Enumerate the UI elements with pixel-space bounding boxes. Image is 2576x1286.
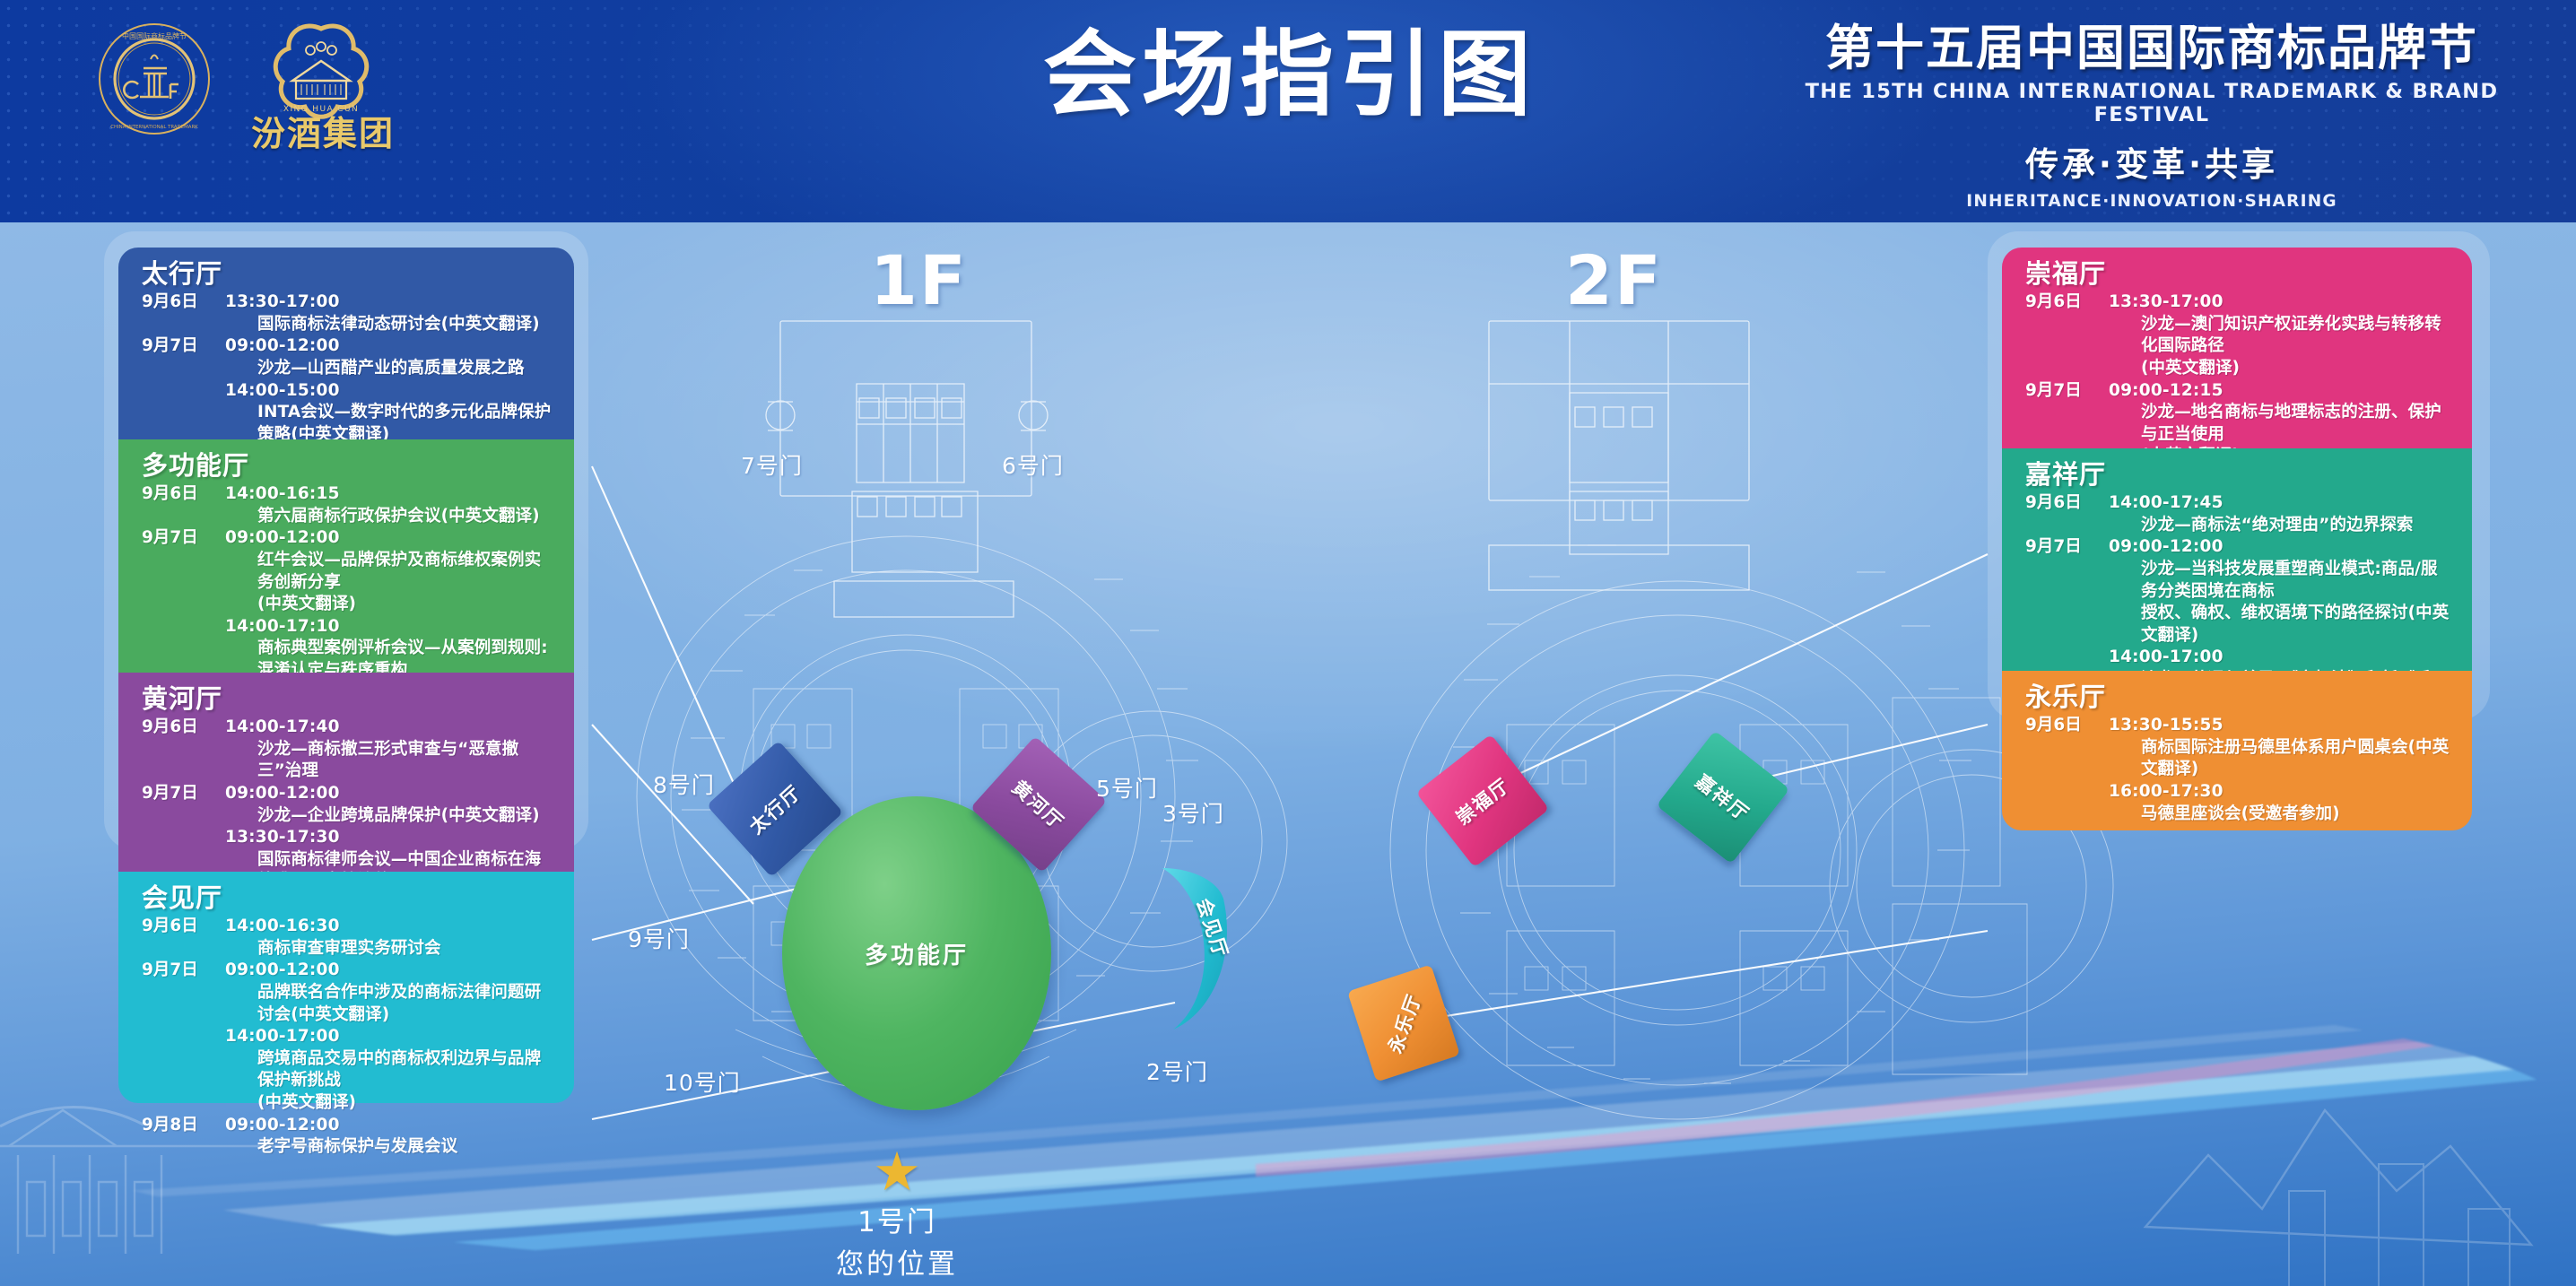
event-date: 9月7日 xyxy=(2025,536,2109,559)
event-name: (中英文翻译) xyxy=(225,1092,554,1115)
event-time: 09:00-12:00 xyxy=(2109,536,2452,559)
event-time: 14:00-17:00 xyxy=(2109,647,2452,669)
schedule-card-title: 永乐厅 xyxy=(2025,680,2452,714)
event-time: 09:00-12:15 xyxy=(2109,380,2452,403)
event-name: (中英文翻译) xyxy=(225,594,554,616)
event-time: 13:30-17:30 xyxy=(225,827,554,849)
door-label-6: 6号门 xyxy=(1002,448,1064,481)
event-name: 马德里座谈会(受邀者参加) xyxy=(2109,804,2452,826)
schedule-event-row: 14:00-15:00INTA会议—数字时代的多元化品牌保护策略(中英文翻译) xyxy=(142,380,554,447)
map-hall-label: 永乐厅 xyxy=(1380,989,1427,1056)
event-date: 9月6日 xyxy=(2025,492,2109,515)
event-time: 14:00-15:00 xyxy=(225,380,554,403)
schedule-card[interactable]: 太行厅9月6日13:30-17:00国际商标法律动态研讨会(中英文翻译)9月7日… xyxy=(118,248,574,439)
star-icon: ★ xyxy=(762,1151,1031,1194)
event-name: 沙龙—澳门知识产权证券化实践与转移转化国际路径 xyxy=(2109,314,2452,358)
schedule-event-row: 9月7日09:00-12:00沙龙—当科技发展重塑商业模式:商品/服务分类困境在… xyxy=(2025,536,2452,647)
schedule-card-title: 崇福厅 xyxy=(2025,256,2452,291)
schedule-event-row: 9月6日14:00-16:30商标审查审理实务研讨会 xyxy=(142,916,554,960)
event-name: 商标国际注册马德里体系用户圆桌会(中英文翻译) xyxy=(2109,737,2452,781)
schedule-card-title: 黄河厅 xyxy=(142,682,554,716)
you-are-here-marker: ★ 1号门 您的位置 xyxy=(762,1151,1031,1282)
page-title: 会场指引图 xyxy=(976,20,1604,130)
map-hall-huijian[interactable]: 会见厅 xyxy=(1155,857,1238,1037)
event-name: 沙龙—山西醋产业的高质量发展之路 xyxy=(225,358,554,380)
event-body: 14:00-17:00跨境商品交易中的商标权利边界与品牌保护新挑战(中英文翻译) xyxy=(225,1026,554,1114)
event-time: 13:30-17:00 xyxy=(225,291,554,314)
event-body: 09:00-12:00沙龙—当科技发展重塑商业模式:商品/服务分类困境在商标授权… xyxy=(2109,536,2452,647)
schedule-card[interactable]: 会见厅9月6日14:00-16:30商标审查审理实务研讨会9月7日09:00-1… xyxy=(118,872,574,1103)
event-date: 9月7日 xyxy=(142,527,225,550)
event-time: 09:00-12:00 xyxy=(225,960,554,982)
door-label-9: 9号门 xyxy=(628,922,690,954)
event-date: 9月7日 xyxy=(142,960,225,982)
event-name: 红牛会议—品牌保护及商标维权案例实务创新分享 xyxy=(225,550,554,594)
cctf-logo-icon: 中国国际商标品牌节 CHINA INTERNATIONAL TRADEMARK xyxy=(97,22,212,136)
event-body: 13:30-15:55商标国际注册马德里体系用户圆桌会(中英文翻译) xyxy=(2109,715,2452,781)
map-hall-label: 嘉祥厅 xyxy=(1691,768,1756,827)
event-date: 9月7日 xyxy=(142,783,225,805)
door-label-5: 5号门 xyxy=(1096,771,1158,804)
event-body: 14:00-15:00INTA会议—数字时代的多元化品牌保护策略(中英文翻译) xyxy=(225,380,554,447)
schedule-event-row: 14:00-17:00跨境商品交易中的商标权利边界与品牌保护新挑战(中英文翻译) xyxy=(142,1026,554,1114)
event-date: 9月6日 xyxy=(142,916,225,938)
door-label-3: 3号门 xyxy=(1162,796,1224,829)
schedule-event-row: 9月6日14:00-17:45沙龙—商标法“绝对理由”的边界探索 xyxy=(2025,492,2452,536)
fenjiu-group-wordmark: 汾酒集团 xyxy=(248,106,398,155)
floor-label-2f: 2F xyxy=(1565,240,1663,320)
event-time: 13:30-17:00 xyxy=(2109,291,2452,314)
festival-title-en: THE 15TH CHINA INTERNATIONAL TRADEMARK &… xyxy=(1788,80,2515,126)
event-date: 9月6日 xyxy=(2025,715,2109,737)
event-name: 沙龙—企业跨境品牌保护(中英文翻译) xyxy=(225,805,554,828)
schedule-event-row: 9月6日14:00-17:40沙龙—商标撤三形式审查与“恶意撤三”治理 xyxy=(142,717,554,783)
event-body: 14:00-16:30商标审查审理实务研讨会 xyxy=(225,916,554,960)
event-name: 品牌联名合作中涉及的商标法律问题研讨会(中英文翻译) xyxy=(225,982,554,1026)
event-date: 9月6日 xyxy=(2025,291,2109,314)
event-time: 09:00-12:00 xyxy=(225,1115,554,1137)
festival-title-cn: 第十五届中国国际商标品牌节 xyxy=(1788,22,2515,74)
schedule-event-row: 9月7日09:00-12:00红牛会议—品牌保护及商标维权案例实务创新分享(中英… xyxy=(142,527,554,615)
event-time: 09:00-12:00 xyxy=(225,783,554,805)
schedule-event-row: 9月6日14:00-16:15第六届商标行政保护会议(中英文翻译) xyxy=(142,483,554,527)
map-hall-label: 黄河厅 xyxy=(1006,774,1070,835)
event-date: 9月6日 xyxy=(142,291,225,314)
schedule-card-title: 多功能厅 xyxy=(142,448,554,482)
event-body: 13:30-17:00沙龙—澳门知识产权证券化实践与转移转化国际路径(中英文翻译… xyxy=(2109,291,2452,379)
schedule-event-row: 9月6日13:30-15:55商标国际注册马德里体系用户圆桌会(中英文翻译) xyxy=(2025,715,2452,781)
event-time: 09:00-12:00 xyxy=(225,335,554,358)
event-body: 09:00-12:00沙龙—山西醋产业的高质量发展之路 xyxy=(225,335,554,379)
map-hall-label: 崇福厅 xyxy=(1450,771,1516,830)
schedule-card[interactable]: 黄河厅9月6日14:00-17:40沙龙—商标撤三形式审查与“恶意撤三”治理9月… xyxy=(118,673,574,872)
schedule-event-row: 9月6日13:30-17:00沙龙—澳门知识产权证券化实践与转移转化国际路径(中… xyxy=(2025,291,2452,379)
event-name: 沙龙—当科技发展重塑商业模式:商品/服务分类困境在商标 xyxy=(2109,559,2452,603)
event-body: 14:00-17:40沙龙—商标撤三形式审查与“恶意撤三”治理 xyxy=(225,717,554,783)
event-time: 14:00-17:00 xyxy=(225,1026,554,1048)
event-time: 14:00-16:30 xyxy=(225,916,554,938)
event-body: 14:00-17:45沙龙—商标法“绝对理由”的边界探索 xyxy=(2109,492,2452,536)
door-label-10: 10号门 xyxy=(664,1065,741,1098)
event-name: 老字号商标保护与发展会议 xyxy=(225,1136,554,1159)
schedule-card-title: 会见厅 xyxy=(142,881,554,915)
schedule-card[interactable]: 永乐厅9月6日13:30-15:55商标国际注册马德里体系用户圆桌会(中英文翻译… xyxy=(2002,671,2472,830)
venue-guide-poster: 中国国际商标品牌节 CHINA INTERNATIONAL TRADEMARK … xyxy=(0,0,2576,1286)
map-body: 1F 2F 多功能厅 太行厅 黄河厅 会见厅 7号门 6号门 xyxy=(0,222,2576,1286)
event-body: 09:00-12:00沙龙—企业跨境品牌保护(中英文翻译) xyxy=(225,783,554,827)
event-time: 14:00-16:15 xyxy=(225,483,554,506)
event-name: 沙龙—商标法“绝对理由”的边界探索 xyxy=(2109,515,2452,537)
schedule-card[interactable]: 崇福厅9月6日13:30-17:00沙龙—澳门知识产权证券化实践与转移转化国际路… xyxy=(2002,248,2472,448)
festival-branding: 第十五届中国国际商标品牌节 THE 15TH CHINA INTERNATION… xyxy=(1788,22,2515,211)
schedule-event-row: 9月6日13:30-17:00国际商标法律动态研讨会(中英文翻译) xyxy=(142,291,554,335)
event-time: 14:00-17:10 xyxy=(225,616,554,639)
event-name: 授权、确权、维权语境下的路径探讨(中英文翻译) xyxy=(2109,603,2452,647)
event-time: 16:00-17:30 xyxy=(2109,781,2452,804)
schedule-card[interactable]: 多功能厅9月6日14:00-16:15第六届商标行政保护会议(中英文翻译)9月7… xyxy=(118,439,574,673)
event-time: 13:30-15:55 xyxy=(2109,715,2452,737)
event-date: 9月6日 xyxy=(142,483,225,506)
event-name: 沙龙—商标撤三形式审查与“恶意撤三”治理 xyxy=(225,739,554,783)
map-hall-label: 太行厅 xyxy=(743,778,806,839)
event-time: 14:00-17:40 xyxy=(225,717,554,739)
event-body: 14:00-16:15第六届商标行政保护会议(中英文翻译) xyxy=(225,483,554,527)
schedule-card-title: 太行厅 xyxy=(142,256,554,291)
svg-text:中国国际商标品牌节: 中国国际商标品牌节 xyxy=(122,31,187,40)
schedule-event-row: 9月7日09:00-12:00沙龙—山西醋产业的高质量发展之路 xyxy=(142,335,554,379)
event-body: 16:00-17:30马德里座谈会(受邀者参加) xyxy=(2109,781,2452,825)
svg-text:CHINA INTERNATIONAL TRADEMARK: CHINA INTERNATIONAL TRADEMARK xyxy=(110,125,198,130)
event-name: 商标审查审理实务研讨会 xyxy=(225,938,554,960)
poster-header: 中国国际商标品牌节 CHINA INTERNATIONAL TRADEMARK … xyxy=(0,0,2576,222)
event-name: 国际商标法律动态研讨会(中英文翻译) xyxy=(225,314,554,336)
you-are-here-text: 您的位置 xyxy=(762,1241,1031,1282)
schedule-event-row: 9月7日09:00-12:00沙龙—企业跨境品牌保护(中英文翻译) xyxy=(142,783,554,827)
festival-slogan-cn: 传承·变革·共享 xyxy=(1788,137,2515,186)
event-name: 沙龙—地名商标与地理标志的注册、保护与正当使用 xyxy=(2109,402,2452,446)
you-are-here-gate: 1号门 xyxy=(762,1199,1031,1239)
event-time: 14:00-17:45 xyxy=(2109,492,2452,515)
schedule-card[interactable]: 嘉祥厅9月6日14:00-17:45沙龙—商标法“绝对理由”的边界探索9月7日0… xyxy=(2002,448,2472,671)
event-date: 9月6日 xyxy=(142,717,225,739)
schedule-event-row: 16:00-17:30马德里座谈会(受邀者参加) xyxy=(2025,781,2452,825)
schedule-event-row: 9月8日09:00-12:00老字号商标保护与发展会议 xyxy=(142,1115,554,1159)
schedule-event-row: 9月7日09:00-12:00品牌联名合作中涉及的商标法律问题研讨会(中英文翻译… xyxy=(142,960,554,1026)
event-body: 09:00-12:00红牛会议—品牌保护及商标维权案例实务创新分享(中英文翻译) xyxy=(225,527,554,615)
event-date: 9月8日 xyxy=(142,1115,225,1137)
event-name: 第六届商标行政保护会议(中英文翻译) xyxy=(225,506,554,528)
door-label-8: 8号门 xyxy=(653,768,715,800)
event-date: 9月7日 xyxy=(142,335,225,358)
map-hall-label: 多功能厅 xyxy=(865,937,969,970)
event-name: (中英文翻译) xyxy=(2109,358,2452,380)
door-label-7: 7号门 xyxy=(741,448,803,481)
floor-label-1f: 1F xyxy=(870,240,968,320)
festival-slogan-en: INHERITANCE·INNOVATION·SHARING xyxy=(1788,192,2515,211)
schedule-card-title: 嘉祥厅 xyxy=(2025,457,2452,491)
event-body: 09:00-12:00老字号商标保护与发展会议 xyxy=(225,1115,554,1159)
door-label-2: 2号门 xyxy=(1146,1055,1208,1087)
event-body: 13:30-17:00国际商标法律动态研讨会(中英文翻译) xyxy=(225,291,554,335)
event-name: 跨境商品交易中的商标权利边界与品牌保护新挑战 xyxy=(225,1048,554,1092)
event-time: 09:00-12:00 xyxy=(225,527,554,550)
event-date: 9月7日 xyxy=(2025,380,2109,403)
event-body: 09:00-12:00品牌联名合作中涉及的商标法律问题研讨会(中英文翻译) xyxy=(225,960,554,1026)
